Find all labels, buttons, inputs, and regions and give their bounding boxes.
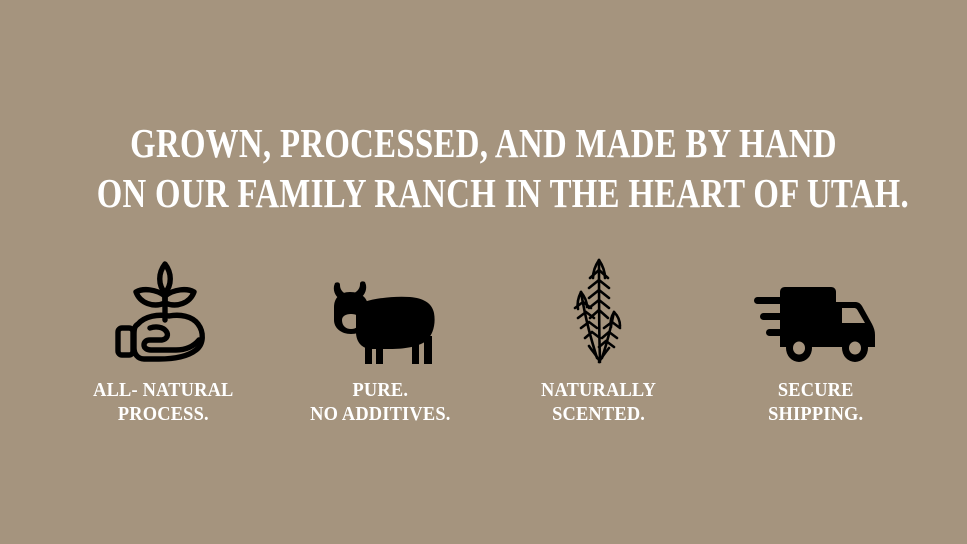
feature-label-line-2: SHIPPING.: [769, 402, 864, 426]
headline-line-1: GROWN, PROCESSED, AND MADE BY HAND: [97, 118, 871, 168]
hand-holding-plant-icon: [98, 246, 228, 364]
feature-label: PURE. NO ADDITIVES.: [304, 378, 457, 426]
feature-label-line-1: ALL- NATURAL: [93, 378, 233, 402]
feature-label-line-2: PROCESS.: [93, 402, 233, 426]
feature-label: SECURE SHIPPING.: [764, 378, 867, 426]
feature-row: ALL- NATURAL PROCESS.: [0, 246, 967, 436]
cow-icon: [316, 246, 446, 364]
headline-line-2: ON OUR FAMILY RANCH IN THE HEART OF UTAH…: [97, 168, 871, 218]
feature-label-line-2: NO ADDITIVES.: [310, 402, 450, 426]
feature-all-natural-process: ALL- NATURAL PROCESS.: [54, 246, 272, 436]
herb-sprig-icon: [533, 246, 663, 364]
feature-label: ALL- NATURAL PROCESS.: [87, 378, 240, 426]
delivery-truck-icon: [751, 246, 881, 364]
feature-label-line-1: SECURE: [769, 378, 864, 402]
feature-secure-shipping: SECURE SHIPPING.: [707, 246, 925, 436]
feature-label-line-2: SCENTED.: [541, 402, 656, 426]
headline: GROWN, PROCESSED, AND MADE BY HAND ON OU…: [0, 118, 967, 218]
feature-label-line-1: PURE.: [310, 378, 450, 402]
feature-label: NATURALLY SCENTED.: [536, 378, 661, 426]
feature-naturally-scented: NATURALLY SCENTED.: [490, 246, 708, 436]
promo-banner: GROWN, PROCESSED, AND MADE BY HAND ON OU…: [0, 0, 967, 544]
feature-label-line-1: NATURALLY: [541, 378, 656, 402]
feature-pure-no-additives: PURE. NO ADDITIVES.: [272, 246, 490, 436]
